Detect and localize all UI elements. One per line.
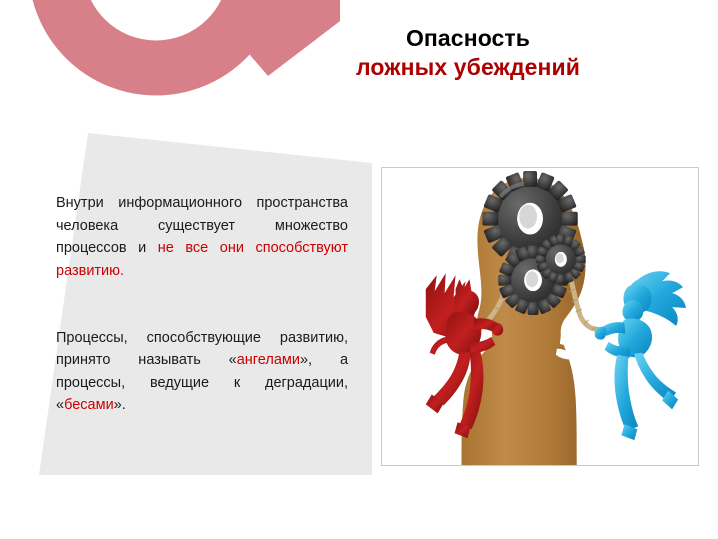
para2-text-black-end: ». xyxy=(114,397,126,413)
paragraph-one: Внутри информационного пространства чело… xyxy=(56,192,348,305)
paragraph-two: Процессы, способствующие развитию, приня… xyxy=(56,327,348,440)
page-title: Опасность ложных убеждений xyxy=(318,24,618,83)
title-line-primary: Опасность xyxy=(318,24,618,53)
decorative-arc xyxy=(0,0,340,108)
gear-small xyxy=(536,235,586,285)
para1-text-black-end: . xyxy=(120,263,124,279)
arc-ring xyxy=(56,0,256,68)
para2-highlight-angels: ангелами xyxy=(237,352,300,368)
content-panel: Внутри информационного пространства чело… xyxy=(36,130,372,478)
illustration-head-gears-devil-angel xyxy=(382,168,698,465)
para2-highlight-demons: бесами xyxy=(64,397,114,413)
panel-body-text: Внутри информационного пространства чело… xyxy=(56,192,348,439)
title-line-secondary: ложных убеждений xyxy=(318,53,618,82)
illustration-frame xyxy=(381,167,699,466)
